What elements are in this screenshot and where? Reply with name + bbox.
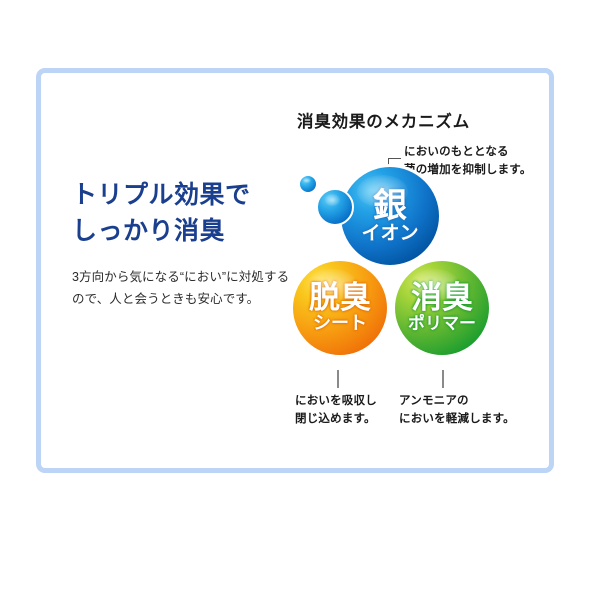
- deodorizing-sheet-annotation: においを吸収し 閉じ込めます。: [295, 392, 377, 429]
- bubble-large-icon: [316, 188, 354, 226]
- bubble-small-icon: [298, 174, 318, 194]
- sphere-deodorizing-sheet: 脱臭 シート: [290, 258, 390, 358]
- sphere-silver-ion: 銀 イオン: [338, 164, 442, 268]
- sphere-deodorizing-polymer-sub-label: ポリマー: [408, 315, 476, 333]
- deodorizing-polymer-leader-line: [442, 370, 444, 388]
- left-text-column: トリプル効果で しっかり消臭 3方向から気になる“におい”に対処するので、人と会…: [72, 178, 298, 311]
- sphere-silver-ion-main-label: 銀: [373, 190, 407, 222]
- deodorizing-polymer-annotation: アンモニアの においを軽減します。: [399, 392, 515, 429]
- sphere-deodorizing-polymer: 消臭 ポリマー: [392, 258, 492, 358]
- sphere-deodorizing-polymer-main-label: 消臭: [411, 283, 473, 313]
- infographic-canvas: トリプル効果で しっかり消臭 3方向から気になる“におい”に対処するので、人と会…: [0, 0, 600, 600]
- mechanism-heading: 消臭効果のメカニズム: [297, 108, 470, 132]
- lead-description: 3方向から気になる“におい”に対処するので、人と会うときも安心です。: [72, 266, 298, 311]
- sphere-deodorizing-sheet-sub-label: シート: [313, 314, 367, 333]
- page-title: トリプル効果で しっかり消臭: [72, 178, 298, 249]
- sphere-cluster: 銀 イオン 脱臭 シート 消臭 ポリマー: [280, 160, 510, 375]
- sphere-deodorizing-sheet-main-label: 脱臭: [309, 283, 371, 313]
- sphere-silver-ion-sub-label: イオン: [361, 224, 418, 244]
- deodorizing-sheet-leader-line: [337, 370, 339, 388]
